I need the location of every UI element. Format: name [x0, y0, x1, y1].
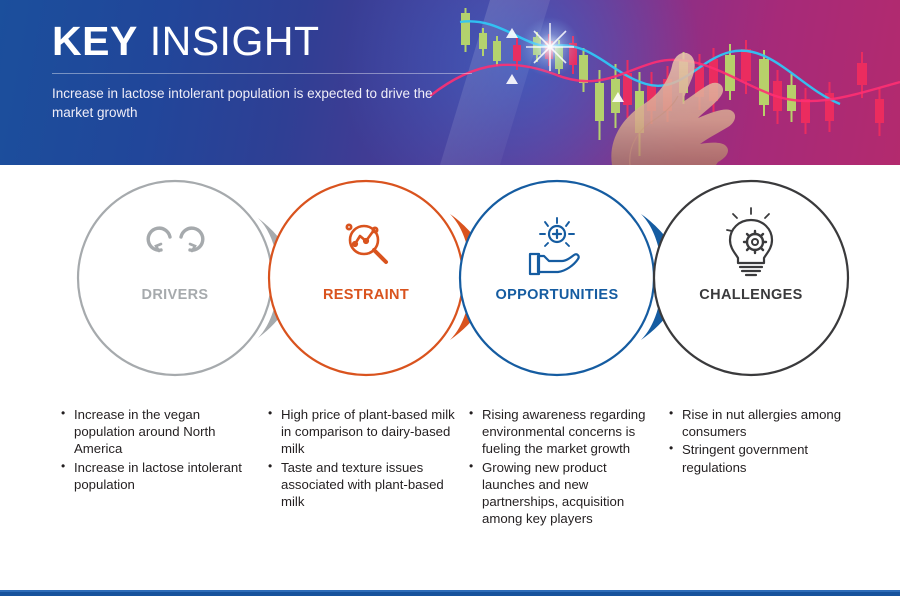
bullet-columns: Increase in the vegan population around … — [0, 406, 900, 586]
circle-label-restraint: RESTRAINT — [291, 287, 441, 303]
bullet-column-opportunities: Rising awareness regarding environmental… — [468, 406, 653, 528]
list-item: High price of plant-based milk in compar… — [267, 406, 457, 458]
circle-drivers — [78, 181, 272, 375]
candlestick-chart-hand-photo — [430, 0, 900, 165]
page-title-rest: INSIGHT — [138, 18, 320, 64]
key-insight-infographic: KEY INSIGHT Increase in lactose intolera… — [0, 0, 900, 602]
list-item: Taste and texture issues associated with… — [267, 459, 457, 511]
list-item: Stringent government regulations — [668, 441, 868, 475]
page-title-bold: KEY — [52, 18, 138, 64]
circle-opportunities — [460, 181, 654, 375]
header-text-block: KEY INSIGHT Increase in lactose intolera… — [52, 18, 492, 122]
footer-bar-highlight — [0, 590, 900, 592]
page-subtitle: Increase in lactose intolerant populatio… — [52, 84, 477, 122]
bullet-column-drivers: Increase in the vegan population around … — [60, 406, 255, 494]
title-divider — [52, 73, 472, 74]
list-item: Increase in lactose intolerant populatio… — [60, 459, 255, 493]
circle-label-challenges: CHALLENGES — [676, 287, 826, 303]
process-circles-row: DRIVERS RESTRAINT OPPORTUNITIES CHALLENG… — [0, 172, 900, 382]
bullet-column-challenges: Rise in nut allergies among consumers St… — [668, 406, 868, 477]
list-item: Rising awareness regarding environmental… — [468, 406, 653, 458]
list-item: Rise in nut allergies among consumers — [668, 406, 868, 440]
bullet-column-restraint: High price of plant-based milk in compar… — [267, 406, 457, 511]
list-item: Increase in the vegan population around … — [60, 406, 255, 458]
circle-restraint — [269, 181, 463, 375]
page-title: KEY INSIGHT — [52, 18, 492, 64]
circle-label-opportunities: OPPORTUNITIES — [472, 287, 642, 303]
header-banner: KEY INSIGHT Increase in lactose intolera… — [0, 0, 900, 165]
list-item: Growing new product launches and new par… — [468, 459, 653, 528]
circle-label-drivers: DRIVERS — [105, 287, 245, 303]
